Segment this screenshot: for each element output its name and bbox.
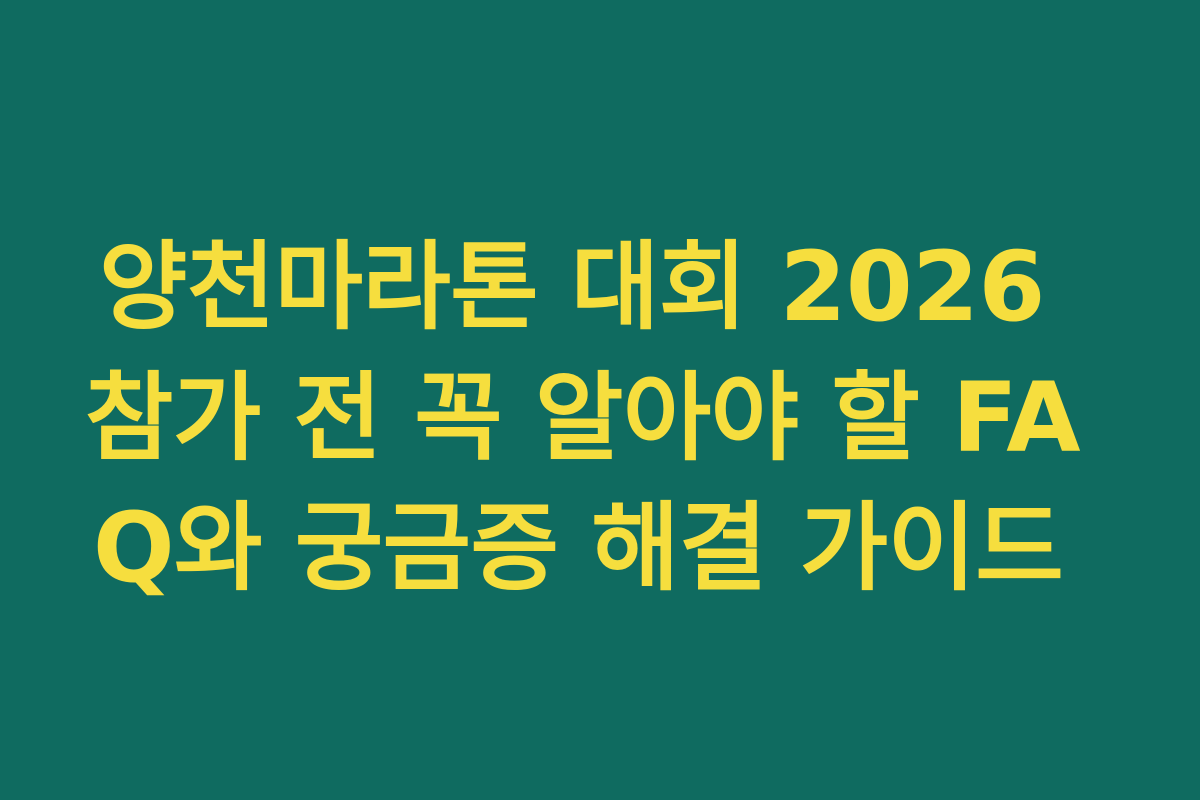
title-block: 양천마라톤 대회 2026 참가 전 꼭 알아야 할 FA Q와 궁금증 해결 … <box>85 222 1115 614</box>
title-line-3: Q와 궁금증 해결 가이드 <box>93 483 1115 614</box>
title-line-2: 참가 전 꼭 알아야 할 FA <box>85 353 1115 484</box>
thumbnail-card: 양천마라톤 대회 2026 참가 전 꼭 알아야 할 FA Q와 궁금증 해결 … <box>0 0 1200 800</box>
title-line-1: 양천마라톤 대회 2026 <box>99 222 1115 353</box>
